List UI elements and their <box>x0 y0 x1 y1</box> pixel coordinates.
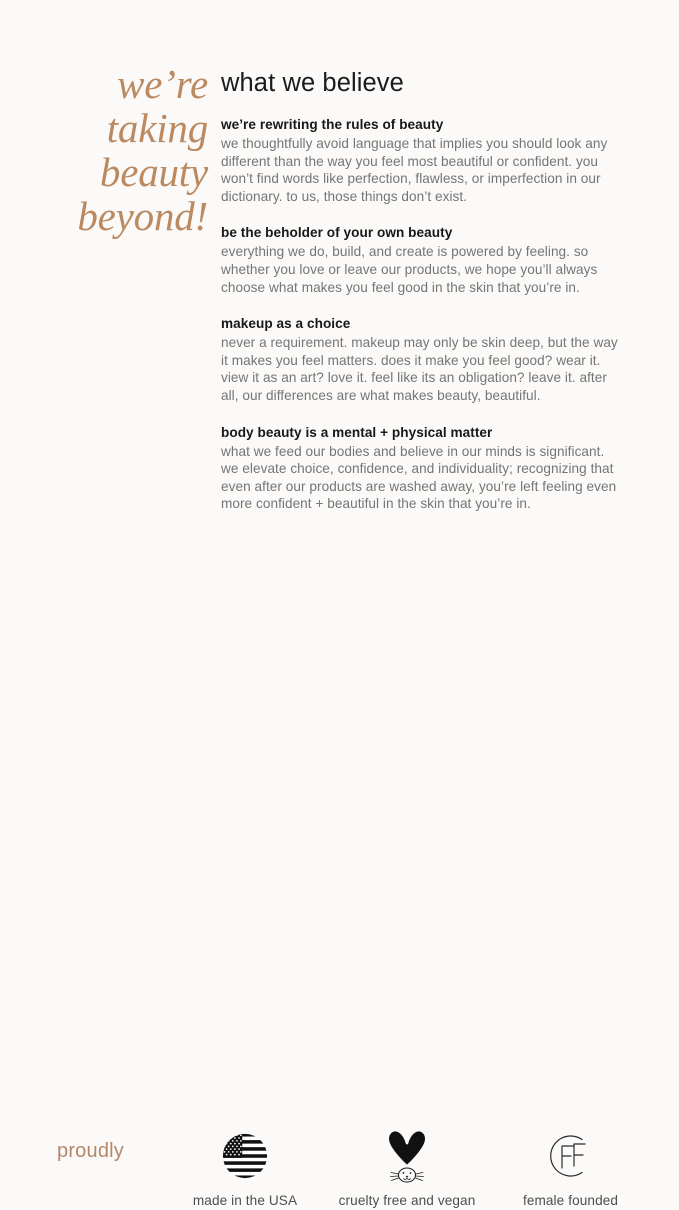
page-title: what we believe <box>221 68 625 98</box>
female-founded-monogram-icon <box>492 1126 649 1186</box>
proudly-label: proudly <box>57 1138 124 1164</box>
section-body: everything we do, build, and create is p… <box>221 243 625 296</box>
belief-section-2: be the beholder of your own beauty every… <box>221 223 625 296</box>
section-heading: we’re rewriting the rules of beauty <box>221 115 625 134</box>
badge-caption: made in the USA <box>165 1192 325 1210</box>
section-body: what we feed our bodies and believe in o… <box>221 443 625 513</box>
badge-strip: proudly <box>0 560 679 660</box>
section-heading: body beauty is a mental + physical matte… <box>221 423 625 442</box>
belief-section-4: body beauty is a mental + physical matte… <box>221 423 625 513</box>
badge-made-in-usa: made in the USA <box>165 1126 325 1210</box>
badge-caption: cruelty free and vegan <box>322 1192 492 1210</box>
page-root: we’re taking beauty beyond! what we beli… <box>0 0 679 679</box>
badge-caption: female founded <box>492 1192 649 1210</box>
belief-section-1: we’re rewriting the rules of beauty we t… <box>221 115 625 205</box>
section-body: we thoughtfully avoid language that impl… <box>221 135 625 205</box>
headline-line-2: taking <box>40 106 208 150</box>
belief-section-3: makeup as a choice never a requirement. … <box>221 314 625 404</box>
headline-line-4: beyond! <box>40 194 208 238</box>
content-column: what we believe we’re rewriting the rule… <box>221 68 625 513</box>
display-headline: we’re taking beauty beyond! <box>40 62 208 238</box>
badge-female-founded: female founded <box>492 1126 649 1210</box>
headline-line-1: we’re <box>40 62 208 106</box>
section-body: never a requirement. makeup may only be … <box>221 334 625 404</box>
section-heading: makeup as a choice <box>221 314 625 333</box>
badge-cruelty-free-vegan: cruelty free and vegan <box>322 1126 492 1210</box>
section-heading: be the beholder of your own beauty <box>221 223 625 242</box>
usa-flag-circle-icon <box>165 1126 325 1186</box>
headline-line-3: beauty <box>40 150 208 194</box>
bunny-heart-ears-icon <box>322 1126 492 1186</box>
